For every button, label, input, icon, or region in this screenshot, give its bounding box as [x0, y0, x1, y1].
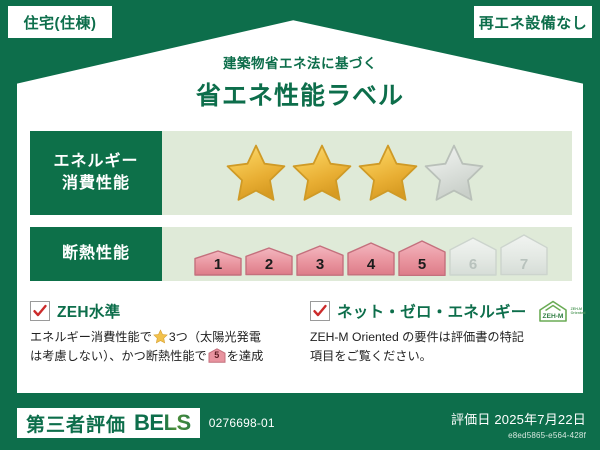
title-main: 省エネ性能ラベル	[0, 76, 600, 112]
zehm-house-icon: ZEH-M	[537, 299, 569, 324]
insulation-performance-row: 断熱性能 1234567	[30, 227, 572, 281]
check-icon	[32, 303, 48, 319]
bels-jp-label: 第三者評価	[26, 410, 126, 437]
zeh-desc-part4: を達成	[227, 349, 264, 363]
house-level-3: 3	[296, 245, 344, 276]
house-level-number: 5	[208, 349, 226, 363]
nzeb-title: ネット・ゼロ・エネルギー	[337, 300, 527, 322]
criteria-zeh-head: ZEH水準	[30, 300, 292, 322]
house-level-number: 5	[398, 256, 446, 273]
zeh-desc-part1: エネルギー消費性能で	[30, 330, 152, 344]
zeh-title: ZEH水準	[57, 300, 121, 322]
zeh-desc-part2: 3つ（太陽光発電	[169, 330, 261, 344]
insulation-label-line1: 断熱性能	[62, 243, 130, 265]
title-subtitle: 建築物省エネ法に基づく	[0, 52, 600, 72]
bels-number: 0276698-01	[209, 416, 275, 430]
house-level-number: 7	[500, 256, 548, 273]
star-icon-filled	[356, 142, 420, 204]
star-icon-empty	[422, 142, 486, 204]
building-type-tag: 住宅(住棟)	[8, 6, 112, 38]
insulation-performance-label: 断熱性能	[30, 227, 162, 281]
insulation-performance-body: 1234567	[162, 227, 572, 281]
energy-performance-body	[162, 131, 572, 215]
bels-badge: 第三者評価 BELS	[17, 408, 200, 438]
house-level-number: 4	[347, 256, 395, 273]
energy-label-line2: 消費性能	[62, 173, 130, 195]
zehm-caption-line2: Oriented	[571, 311, 586, 315]
energy-performance-row: エネルギー 消費性能	[30, 131, 572, 215]
evaluation-hash: e8ed5865-e564-428f	[451, 431, 586, 440]
house-level-5: 5	[398, 240, 446, 276]
check-icon	[312, 303, 328, 319]
house-level-number: 1	[194, 256, 242, 273]
criteria-zeh: ZEH水準 エネルギー消費性能で3つ（太陽光発電 は考慮しない）、かつ断熱性能で…	[30, 300, 292, 366]
star-rating	[224, 142, 486, 204]
star-icon-filled	[290, 142, 354, 204]
renewable-equipment-tag: 再エネ設備なし	[474, 6, 592, 38]
zehm-logo-caption: ZEH-M Oriented	[571, 307, 586, 316]
page-title: 建築物省エネ法に基づく 省エネ性能ラベル	[0, 52, 600, 112]
zeh-desc-part3: は考慮しない）、かつ断熱性能で	[30, 349, 207, 363]
zeh-description: エネルギー消費性能で3つ（太陽光発電 は考慮しない）、かつ断熱性能で5を達成	[30, 328, 292, 366]
star-icon-filled	[224, 142, 288, 204]
nzeb-checkbox[interactable]	[310, 301, 330, 321]
zehm-caption-line1: ZEH-M	[571, 307, 582, 311]
bels-en-label: BELS	[134, 410, 191, 436]
star-icon	[153, 329, 168, 344]
house-level-7: 7	[500, 234, 548, 276]
criteria-section: ZEH水準 エネルギー消費性能で3つ（太陽光発電 は考慮しない）、かつ断熱性能で…	[30, 300, 575, 366]
house-level-4: 4	[347, 242, 395, 276]
zehm-logo: ZEH-M ZEH-M Oriented	[537, 299, 586, 324]
house-level-icon: 5	[208, 348, 226, 363]
house-level-number: 6	[449, 256, 497, 273]
house-level-1: 1	[194, 250, 242, 276]
house-level-scale: 1234567	[194, 232, 548, 276]
nzeb-description: ZEH-M Oriented の要件は評価書の特記 項目をご覧ください。	[310, 328, 572, 366]
energy-label-root: 住宅(住棟) 再エネ設備なし 建築物省エネ法に基づく 省エネ性能ラベル エネルギ…	[0, 0, 600, 450]
evaluation-info: 評価日 2025年7月22日 e8ed5865-e564-428f	[451, 409, 586, 440]
bels-footer: 第三者評価 BELS 0276698-01	[17, 408, 275, 438]
energy-label-line1: エネルギー	[53, 151, 138, 173]
energy-performance-label: エネルギー 消費性能	[30, 131, 162, 215]
nzeb-desc-line1: ZEH-M Oriented の要件は評価書の特記	[310, 330, 524, 344]
criteria-nzeb-head: ネット・ゼロ・エネルギー ZEH-M ZEH-M Oriented	[310, 300, 572, 322]
house-level-number: 2	[245, 256, 293, 273]
zeh-checkbox[interactable]	[30, 301, 50, 321]
house-level-6: 6	[449, 237, 497, 276]
criteria-nzeb: ネット・ゼロ・エネルギー ZEH-M ZEH-M Oriented ZEH-M …	[310, 300, 572, 366]
house-level-2: 2	[245, 247, 293, 276]
house-level-number: 3	[296, 256, 344, 273]
evaluation-date: 評価日 2025年7月22日	[451, 409, 586, 428]
nzeb-desc-line2: 項目をご覧ください。	[310, 349, 432, 363]
svg-text:ZEH-M: ZEH-M	[542, 313, 563, 320]
